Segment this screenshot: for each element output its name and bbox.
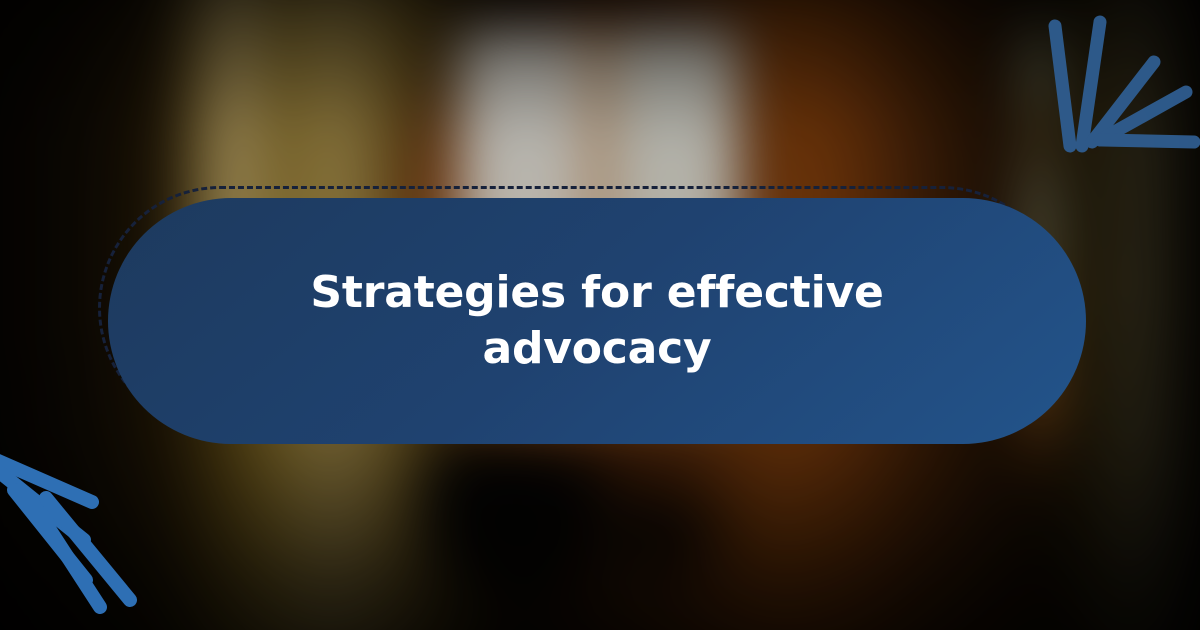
page-title: Strategies for effective advocacy bbox=[167, 265, 1028, 378]
banner-canvas: Strategies for effective advocacy bbox=[0, 0, 1200, 630]
title-card: Strategies for effective advocacy bbox=[108, 198, 1086, 444]
title-card-group: Strategies for effective advocacy bbox=[0, 0, 1200, 630]
